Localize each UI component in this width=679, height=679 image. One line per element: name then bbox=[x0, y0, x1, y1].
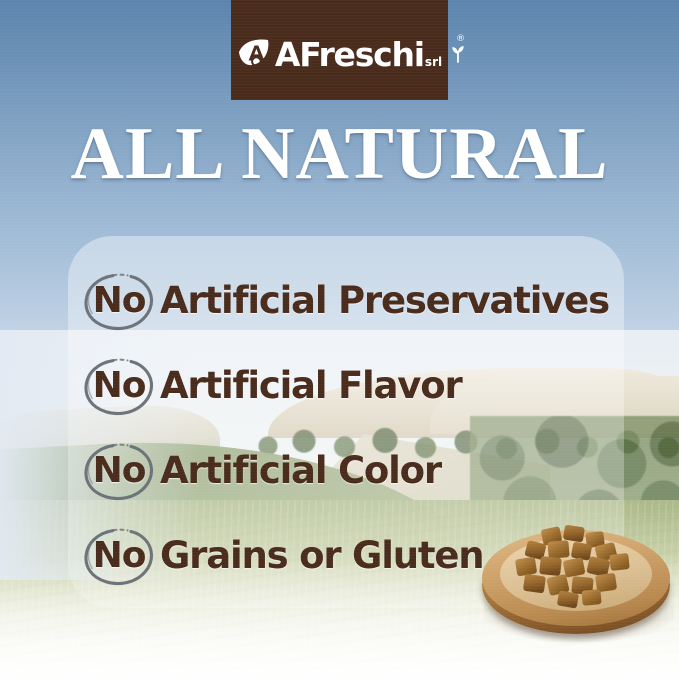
claim-text: Artificial Preservatives bbox=[160, 282, 609, 319]
brand-wordmark: AFreschisrl® bbox=[275, 38, 442, 71]
claim-item: No Artificial Color bbox=[82, 428, 642, 513]
no-badge: No bbox=[82, 270, 156, 332]
sprout-icon bbox=[450, 45, 466, 63]
claim-text: Artificial Flavor bbox=[160, 367, 462, 404]
promotional-banner: AFreschisrl® ALL NATURAL No A bbox=[0, 0, 679, 679]
no-label: No bbox=[93, 283, 146, 319]
claim-item: No Artificial Flavor bbox=[82, 343, 642, 428]
leaf-a-icon bbox=[237, 37, 277, 71]
brand-logo: AFreschisrl® bbox=[237, 37, 442, 71]
no-label: No bbox=[93, 538, 146, 574]
claim-text: Artificial Color bbox=[160, 452, 441, 489]
claim-text: Grains or Gluten bbox=[160, 537, 483, 574]
no-label: No bbox=[93, 453, 146, 489]
no-badge: No bbox=[82, 355, 156, 417]
claim-item: No Artificial Preservatives bbox=[82, 258, 642, 343]
product-image bbox=[476, 520, 679, 650]
no-label: No bbox=[93, 368, 146, 404]
brand-banner: AFreschisrl® bbox=[231, 0, 448, 100]
page-title: ALL NATURAL bbox=[0, 117, 679, 191]
registered-trademark-icon: ® bbox=[456, 35, 465, 44]
no-badge: No bbox=[82, 440, 156, 502]
brand-name: AFreschi bbox=[275, 35, 424, 74]
no-badge: No bbox=[82, 525, 156, 587]
brand-legal-suffix: srl bbox=[425, 55, 442, 69]
dog-treats-pile bbox=[498, 522, 654, 614]
